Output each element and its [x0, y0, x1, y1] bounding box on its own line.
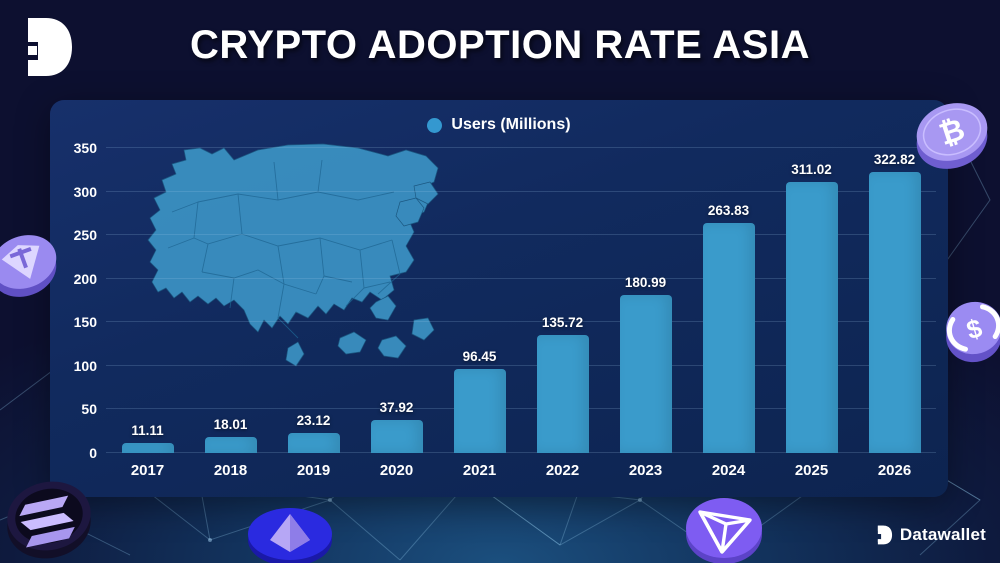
bar[interactable]	[288, 433, 340, 453]
bar-group: 18.012018	[189, 148, 272, 453]
y-axis-tick-label: 150	[74, 314, 97, 330]
x-axis-tick-label: 2021	[463, 462, 496, 479]
usdc-coin-icon: $	[942, 286, 1000, 370]
x-axis-tick-label: 2023	[629, 462, 662, 479]
bar[interactable]	[371, 420, 423, 453]
bar[interactable]	[620, 295, 672, 453]
bar-value-label: 263.83	[708, 203, 749, 218]
bitcoin-coin-icon: ₿	[906, 84, 998, 180]
bar-value-label: 135.72	[542, 315, 583, 330]
x-axis-tick-label: 2018	[214, 462, 247, 479]
y-axis-tick-label: 0	[89, 445, 97, 461]
bar-value-label: 18.01	[214, 417, 248, 432]
solana-coin-icon	[0, 468, 104, 563]
datawallet-logo-icon	[874, 525, 894, 545]
x-axis-tick-label: 2019	[297, 462, 330, 479]
x-axis-tick-label: 2025	[795, 462, 828, 479]
header: CRYPTO ADOPTION RATE ASIA	[0, 0, 1000, 90]
legend: Users (Millions)	[50, 116, 948, 134]
page-title: CRYPTO ADOPTION RATE ASIA	[190, 23, 810, 68]
x-axis-tick-label: 2020	[380, 462, 413, 479]
bar-group: 322.822026	[853, 148, 936, 453]
y-axis-tick-label: 50	[81, 401, 97, 417]
bar[interactable]	[122, 443, 174, 453]
bar-group: 11.112017	[106, 148, 189, 453]
ethereum-coin-icon	[240, 506, 342, 563]
x-axis-tick-label: 2022	[546, 462, 579, 479]
tron-coin-icon	[676, 494, 772, 563]
y-axis-tick-label: 300	[74, 184, 97, 200]
bar-group: 96.452021	[438, 148, 521, 453]
x-axis-tick-label: 2017	[131, 462, 164, 479]
tether-coin-icon	[0, 218, 66, 304]
x-axis-tick-label: 2026	[878, 462, 911, 479]
bar[interactable]	[703, 223, 755, 453]
bar-value-label: 11.11	[131, 423, 163, 438]
chart-panel: Users (Millions) 050100150200250300350 1…	[50, 100, 948, 497]
legend-dot-icon	[427, 118, 442, 133]
y-axis-tick-label: 350	[74, 140, 97, 156]
bar-value-label: 180.99	[625, 275, 666, 290]
bar-group: 23.122019	[272, 148, 355, 453]
bar[interactable]	[786, 182, 838, 453]
bar-group: 311.022025	[770, 148, 853, 453]
bar-value-label: 37.92	[380, 400, 414, 415]
bar[interactable]	[537, 335, 589, 453]
bar-group: 180.992023	[604, 148, 687, 453]
bar-value-label: 311.02	[791, 162, 832, 177]
bar-series: 11.11201718.01201823.12201937.92202096.4…	[106, 148, 936, 453]
legend-label: Users (Millions)	[451, 116, 570, 134]
x-axis-tick-label: 2024	[712, 462, 745, 479]
bar-value-label: 23.12	[297, 413, 331, 428]
bar[interactable]	[205, 437, 257, 453]
bar-group: 135.722022	[521, 148, 604, 453]
y-axis-tick-label: 100	[74, 358, 97, 374]
watermark-text: Datawallet	[900, 525, 986, 545]
bar-group: 263.832024	[687, 148, 770, 453]
bar[interactable]	[454, 369, 506, 453]
plot-area: 050100150200250300350 11.11201718.012018…	[106, 148, 936, 453]
bar-group: 37.922020	[355, 148, 438, 453]
datawallet-d-logo-icon	[18, 16, 76, 78]
watermark: Datawallet	[874, 525, 986, 545]
bar[interactable]	[869, 172, 921, 453]
y-axis-tick-label: 200	[74, 271, 97, 287]
y-axis-tick-label: 250	[74, 227, 97, 243]
bar-value-label: 96.45	[463, 349, 497, 364]
